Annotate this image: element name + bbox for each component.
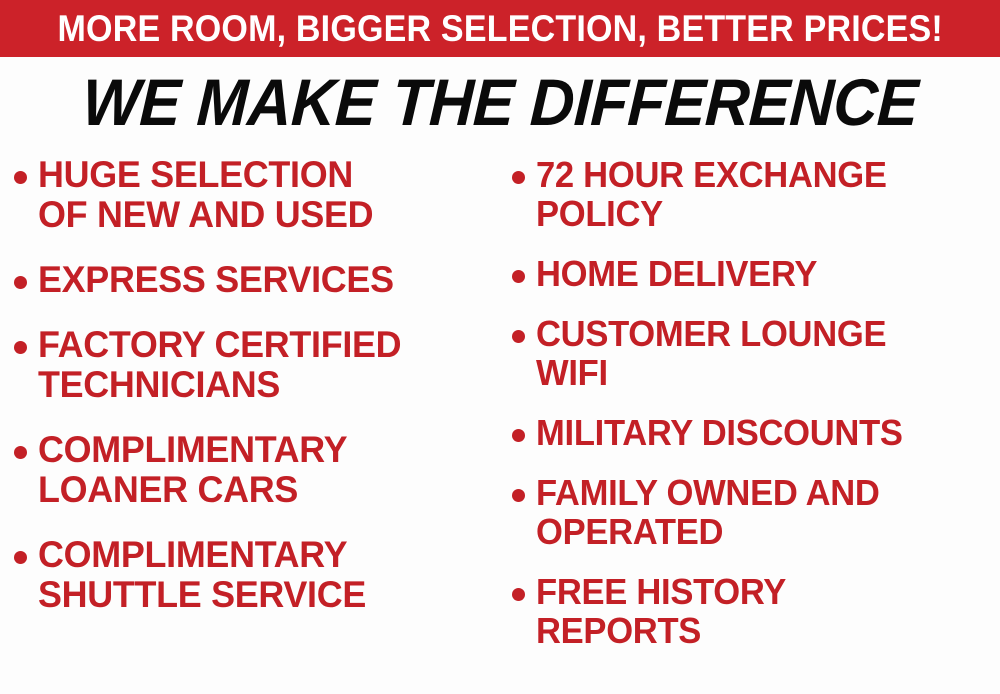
list-item-label: FREE HISTORY REPORTS: [536, 572, 786, 650]
list-item: HOME DELIVERY: [512, 254, 998, 293]
list-item: FREE HISTORY REPORTS: [512, 572, 998, 650]
top-banner: MORE ROOM, BIGGER SELECTION, BETTER PRIC…: [0, 0, 1000, 57]
headline-container: WE MAKE THE DIFFERENCE: [0, 62, 1000, 142]
list-item: HUGE SELECTION OF NEW AND USED: [14, 155, 494, 235]
main-headline: WE MAKE THE DIFFERENCE: [81, 67, 920, 137]
list-item-label: COMPLIMENTARY SHUTTLE SERVICE: [38, 535, 366, 615]
list-item: CUSTOMER LOUNGE WIFI: [512, 314, 998, 392]
list-item-label: FACTORY CERTIFIED TECHNICIANS: [38, 325, 401, 405]
list-item-label: 72 HOUR EXCHANGE POLICY: [536, 155, 887, 233]
list-item-label: CUSTOMER LOUNGE WIFI: [536, 314, 886, 392]
bullet-dot-icon: [14, 446, 27, 459]
list-item: COMPLIMENTARY SHUTTLE SERVICE: [14, 535, 494, 615]
bullet-dot-icon: [512, 489, 525, 502]
list-item: FACTORY CERTIFIED TECHNICIANS: [14, 325, 494, 405]
list-item: EXPRESS SERVICES: [14, 260, 494, 300]
list-item-label: HOME DELIVERY: [536, 254, 817, 293]
features-column-right: 72 HOUR EXCHANGE POLICY HOME DELIVERY CU…: [500, 155, 1000, 671]
bullet-dot-icon: [14, 276, 27, 289]
bullet-dot-icon: [512, 429, 525, 442]
bullet-dot-icon: [14, 551, 27, 564]
bullet-dot-icon: [14, 171, 27, 184]
list-item: MILITARY DISCOUNTS: [512, 413, 998, 452]
list-item: 72 HOUR EXCHANGE POLICY: [512, 155, 998, 233]
features-column-left: HUGE SELECTION OF NEW AND USED EXPRESS S…: [0, 155, 500, 640]
promotional-poster: MORE ROOM, BIGGER SELECTION, BETTER PRIC…: [0, 0, 1000, 694]
bullet-dot-icon: [512, 270, 525, 283]
bullet-dot-icon: [512, 588, 525, 601]
list-item-label: HUGE SELECTION OF NEW AND USED: [38, 155, 373, 235]
list-item: COMPLIMENTARY LOANER CARS: [14, 430, 494, 510]
features-columns: HUGE SELECTION OF NEW AND USED EXPRESS S…: [0, 155, 1000, 694]
bullet-dot-icon: [512, 171, 525, 184]
list-item-label: MILITARY DISCOUNTS: [536, 413, 903, 452]
list-item-label: COMPLIMENTARY LOANER CARS: [38, 430, 347, 510]
list-item: FAMILY OWNED AND OPERATED: [512, 473, 998, 551]
bullet-dot-icon: [14, 341, 27, 354]
list-item-label: FAMILY OWNED AND OPERATED: [536, 473, 880, 551]
bullet-dot-icon: [512, 330, 525, 343]
list-item-label: EXPRESS SERVICES: [38, 260, 394, 300]
banner-headline-text: MORE ROOM, BIGGER SELECTION, BETTER PRIC…: [57, 10, 942, 47]
